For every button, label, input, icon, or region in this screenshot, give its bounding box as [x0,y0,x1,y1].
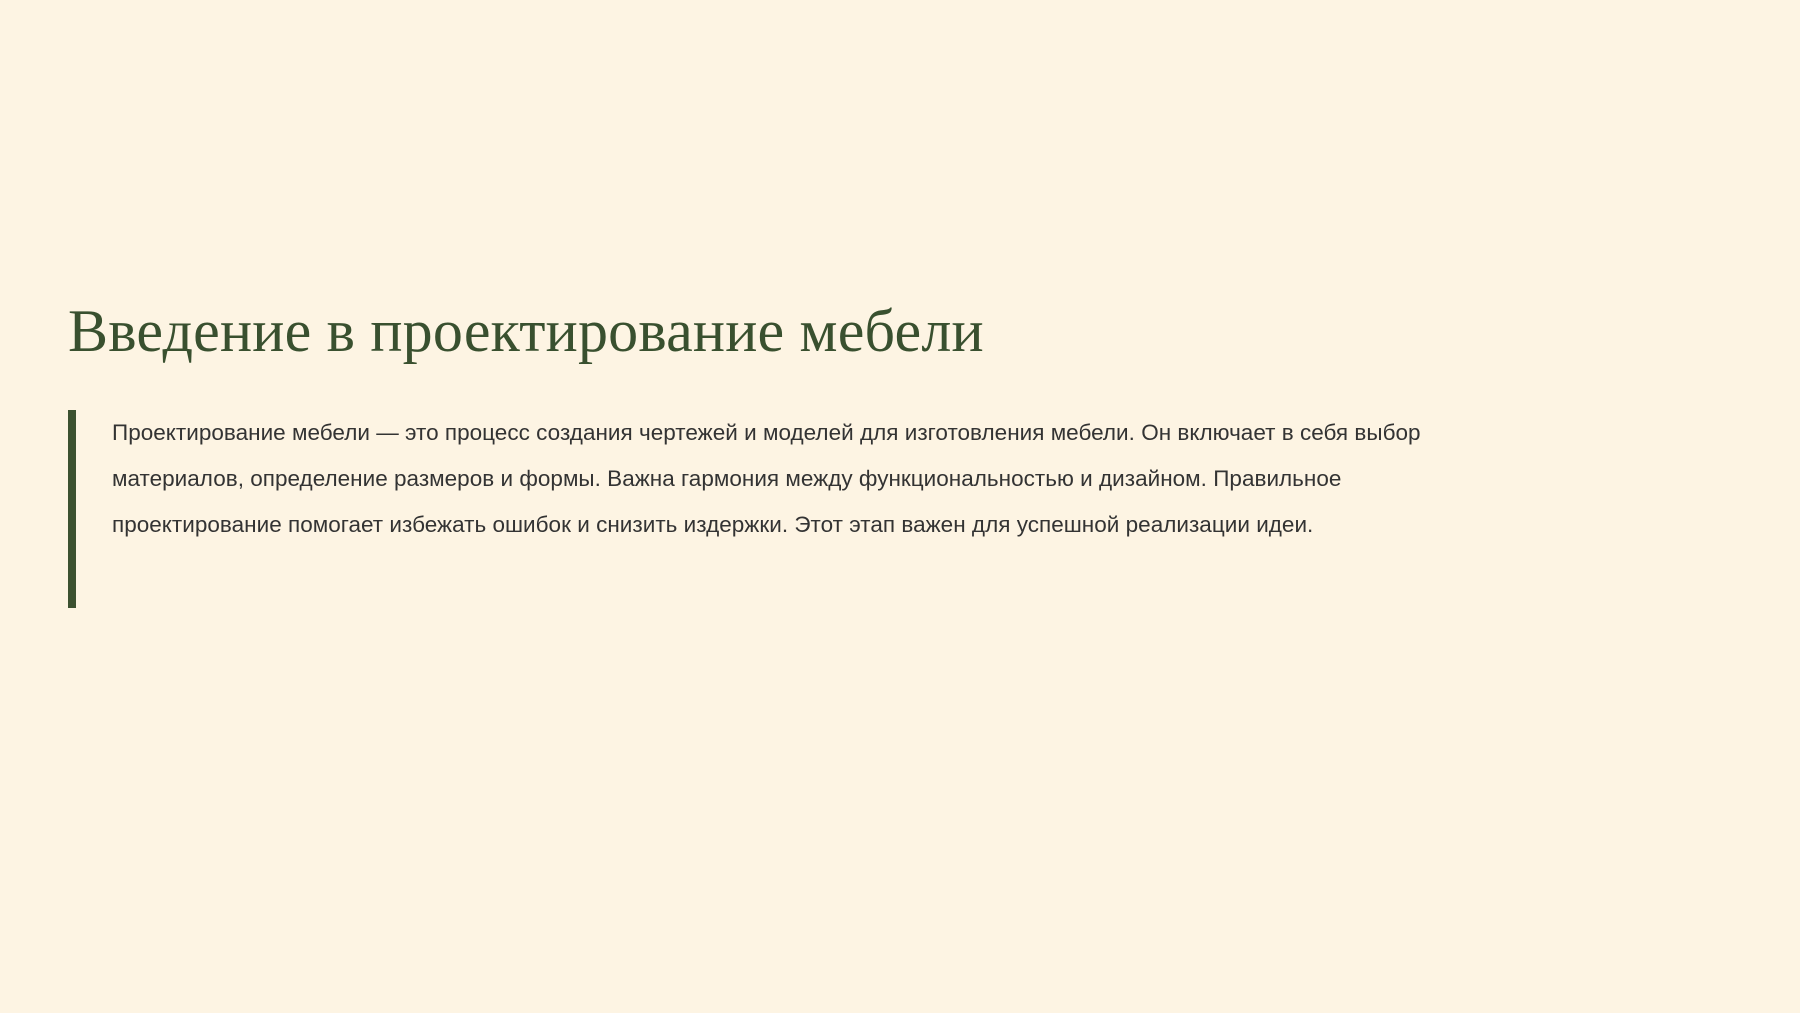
body-paragraph: Проектирование мебели — это процесс созд… [112,410,1506,548]
body-quote-block: Проектирование мебели — это процесс созд… [68,410,1506,548]
page-title: Введение в проектирование мебели [68,300,1508,363]
slide-content: Введение в проектирование мебели Проекти… [68,300,1508,548]
slide-canvas: Введение в проектирование мебели Проекти… [0,0,1800,1013]
accent-bar [68,410,76,608]
